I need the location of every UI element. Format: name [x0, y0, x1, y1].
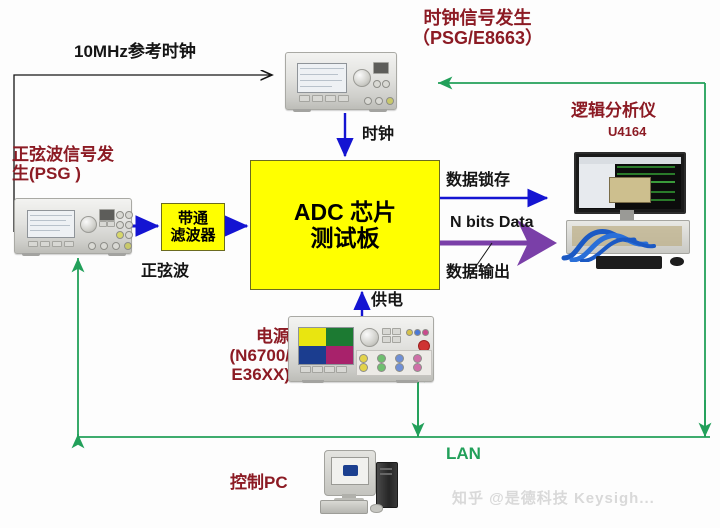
bandpass-filter-label: 带通 滤波器: [170, 210, 215, 245]
psg-display: [27, 210, 75, 238]
block-diagram-canvas: ADC 芯片 测试板 带通 滤波器 10MHz参考时钟 时钟信号发生 （PSG/…: [0, 0, 720, 528]
label-lan: LAN: [446, 444, 481, 463]
label-control-pc: 控制PC: [230, 473, 288, 492]
label-n-bits-data: N bits Data: [450, 214, 534, 232]
label-power-supply: 电源 (N6700/ E36XX): [222, 327, 290, 384]
la-mouse: [670, 257, 684, 266]
la-probe-cables: [558, 214, 696, 262]
hp-logo-icon: [343, 465, 358, 476]
label-logic-analyzer: 逻辑分析仪: [571, 101, 656, 120]
pc-mouse: [370, 504, 383, 513]
label-sine-signal-generator: 正弦波信号发 生(PSG ): [12, 145, 114, 183]
pc-keyboard: [320, 500, 368, 514]
power-supply-n6700: [288, 316, 434, 382]
signal-generator-e8663: [285, 52, 397, 110]
label-data-output: 数据输出: [446, 264, 510, 282]
label-sine-wave: 正弦波: [141, 263, 189, 281]
label-power-input: 供电: [371, 292, 403, 310]
e8663-rotary-knob: [353, 69, 371, 87]
adc-block-line1: ADC 芯片: [294, 199, 396, 225]
la-monitor: [574, 152, 686, 214]
adc-test-board-block: ADC 芯片 测试板: [250, 160, 440, 290]
label-clock: 时钟: [362, 126, 394, 144]
label-data-latch: 数据锁存: [446, 172, 510, 190]
psg-rotary-knob: [80, 216, 97, 233]
la-keyboard: [596, 256, 662, 269]
logic-analyzer-u4164: [558, 152, 696, 280]
signal-generator-psg: [14, 198, 132, 254]
watermark: 知乎 @是德科技 Keysigh...: [452, 487, 655, 508]
label-logic-analyzer-model: U4164: [608, 125, 646, 140]
e8663-display: [297, 63, 347, 93]
label-10mhz-reference-clock: 10MHz参考时钟: [74, 42, 196, 61]
label-clock-signal-generator: 时钟信号发生 （PSG/E8663）: [412, 8, 543, 48]
power-supply-display: [298, 327, 354, 365]
bandpass-filter-block: 带通 滤波器: [161, 203, 225, 251]
pc-monitor: [324, 450, 376, 496]
adc-block-line2: 测试板: [311, 225, 380, 251]
control-pc-desktop: [318, 448, 414, 516]
